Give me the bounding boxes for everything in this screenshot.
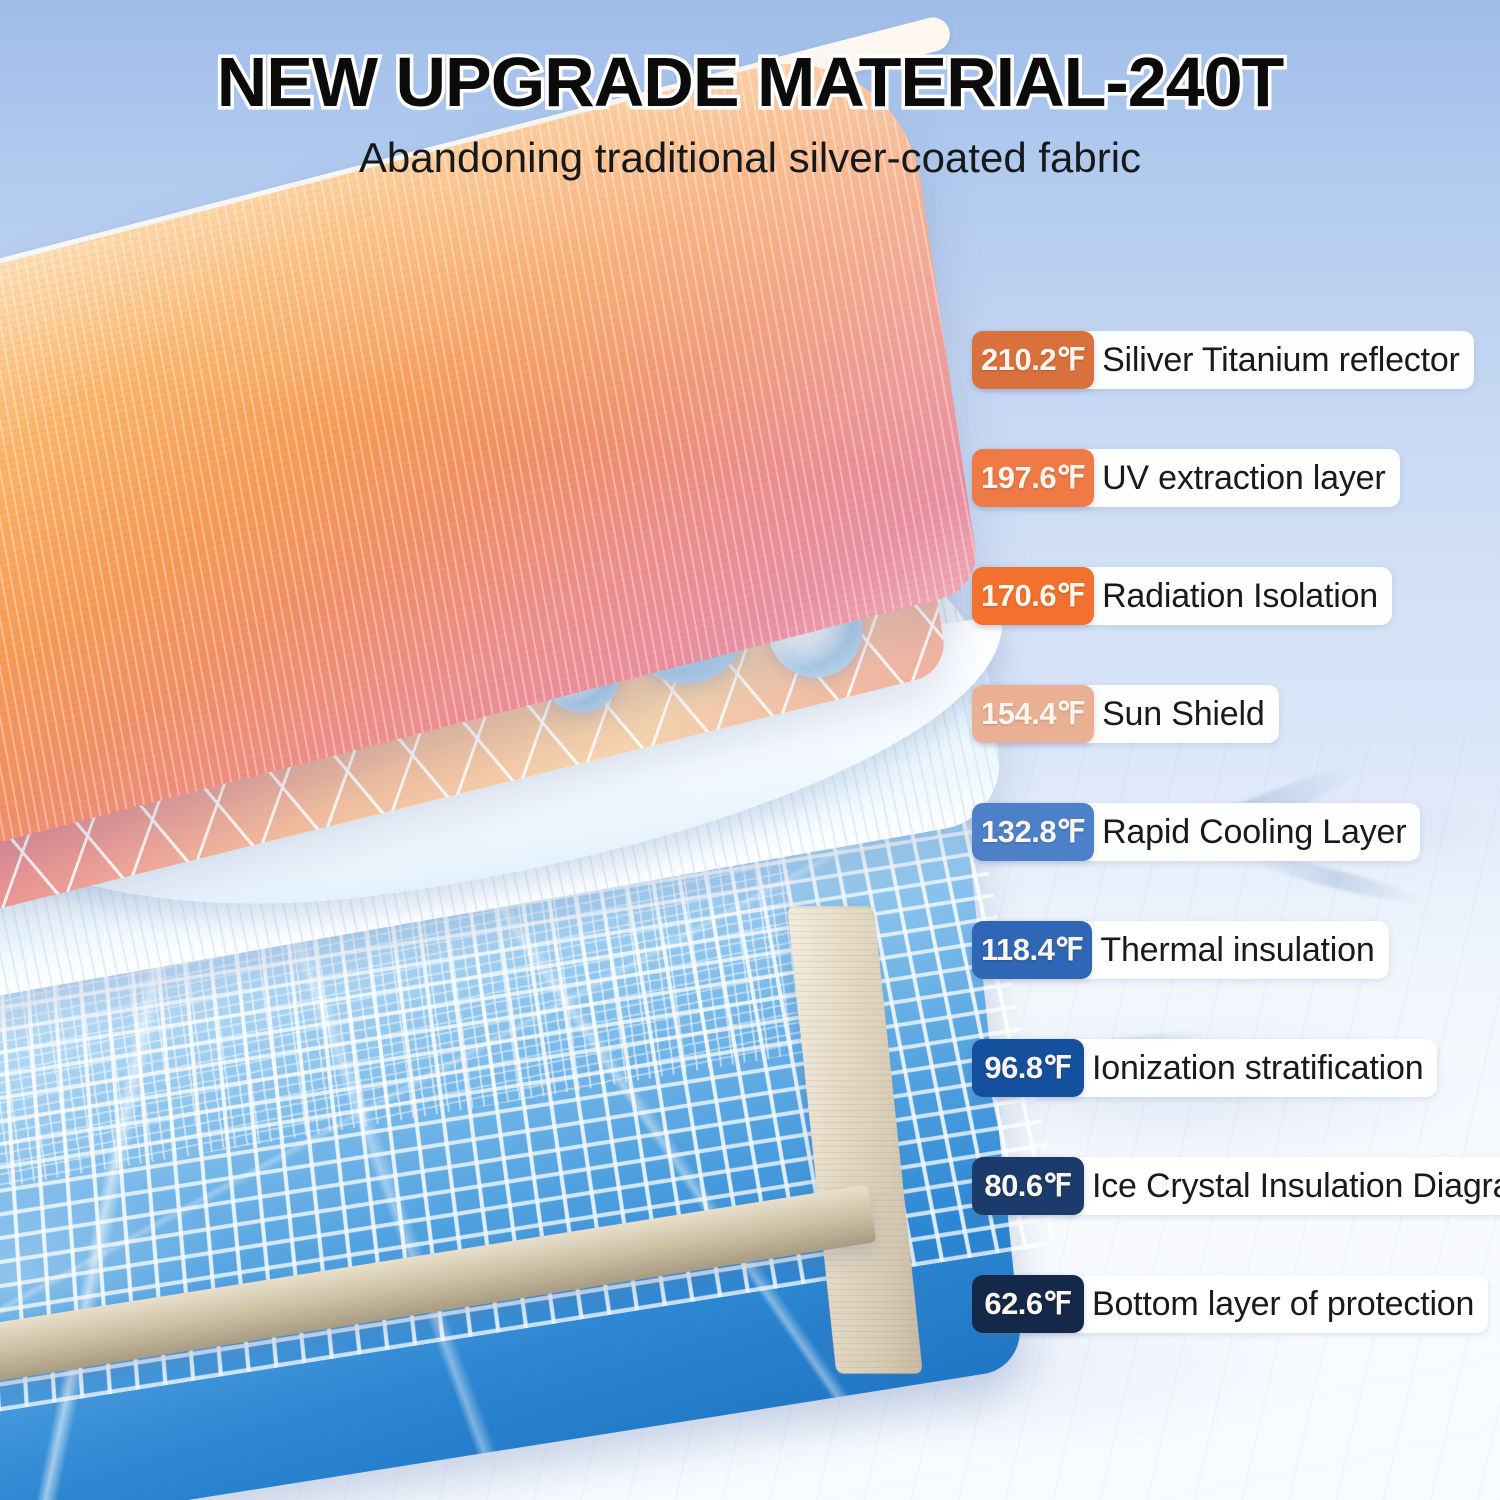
- temperature-badge: 132.8℉: [972, 803, 1094, 861]
- temperature-badge: 170.6℉: [972, 567, 1094, 625]
- layer-spec-row: 197.6℉ UV extraction layer: [972, 449, 1400, 507]
- layer-name-label: Ice Crystal Insulation Diagram: [1084, 1157, 1500, 1215]
- layer-spec-list: 210.2℉ Siliver Titanium reflector 197.6℉…: [972, 331, 1500, 1333]
- layer-name-label: Radiation Isolation: [1094, 567, 1392, 625]
- layer-name-label: Thermal insulation: [1092, 921, 1388, 979]
- layer-spec-row: 154.4℉ Sun Shield: [972, 685, 1279, 743]
- temperature-badge: 118.4℉: [972, 921, 1092, 979]
- layer-spec-row: 96.8℉ Ionization stratification: [972, 1039, 1437, 1097]
- layer-name-label: Sun Shield: [1094, 685, 1278, 743]
- layer-name-label: Siliver Titanium reflector: [1094, 331, 1474, 389]
- header: NEW UPGRADE MATERIAL-240T Abandoning tra…: [0, 46, 1500, 182]
- layer-spec-row: 118.4℉ Thermal insulation: [972, 921, 1389, 979]
- layer-name-label: UV extraction layer: [1094, 449, 1399, 507]
- layer-spec-row: 210.2℉ Siliver Titanium reflector: [972, 331, 1474, 389]
- temperature-badge: 96.8℉: [972, 1039, 1084, 1097]
- layer-spec-row: 62.6℉ Bottom layer of protection: [972, 1275, 1488, 1333]
- page-subtitle: Abandoning traditional silver-coated fab…: [0, 134, 1500, 182]
- temperature-badge: 80.6℉: [972, 1157, 1084, 1215]
- layer-name-label: Bottom layer of protection: [1084, 1275, 1488, 1333]
- layer-spec-row: 170.6℉ Radiation Isolation: [972, 567, 1392, 625]
- page-title: NEW UPGRADE MATERIAL-240T: [0, 46, 1500, 120]
- layer-spec-row: 80.6℉ Ice Crystal Insulation Diagram: [972, 1157, 1500, 1215]
- temperature-badge: 210.2℉: [972, 331, 1094, 389]
- temperature-badge: 62.6℉: [972, 1275, 1084, 1333]
- temperature-badge: 197.6℉: [972, 449, 1094, 507]
- layer-spec-row: 132.8℉ Rapid Cooling Layer: [972, 803, 1420, 861]
- layer-name-label: Ionization stratification: [1084, 1039, 1437, 1097]
- infographic-canvas: NEW UPGRADE MATERIAL-240T Abandoning tra…: [0, 0, 1500, 1500]
- temperature-badge: 154.4℉: [972, 685, 1094, 743]
- layer-name-label: Rapid Cooling Layer: [1094, 803, 1420, 861]
